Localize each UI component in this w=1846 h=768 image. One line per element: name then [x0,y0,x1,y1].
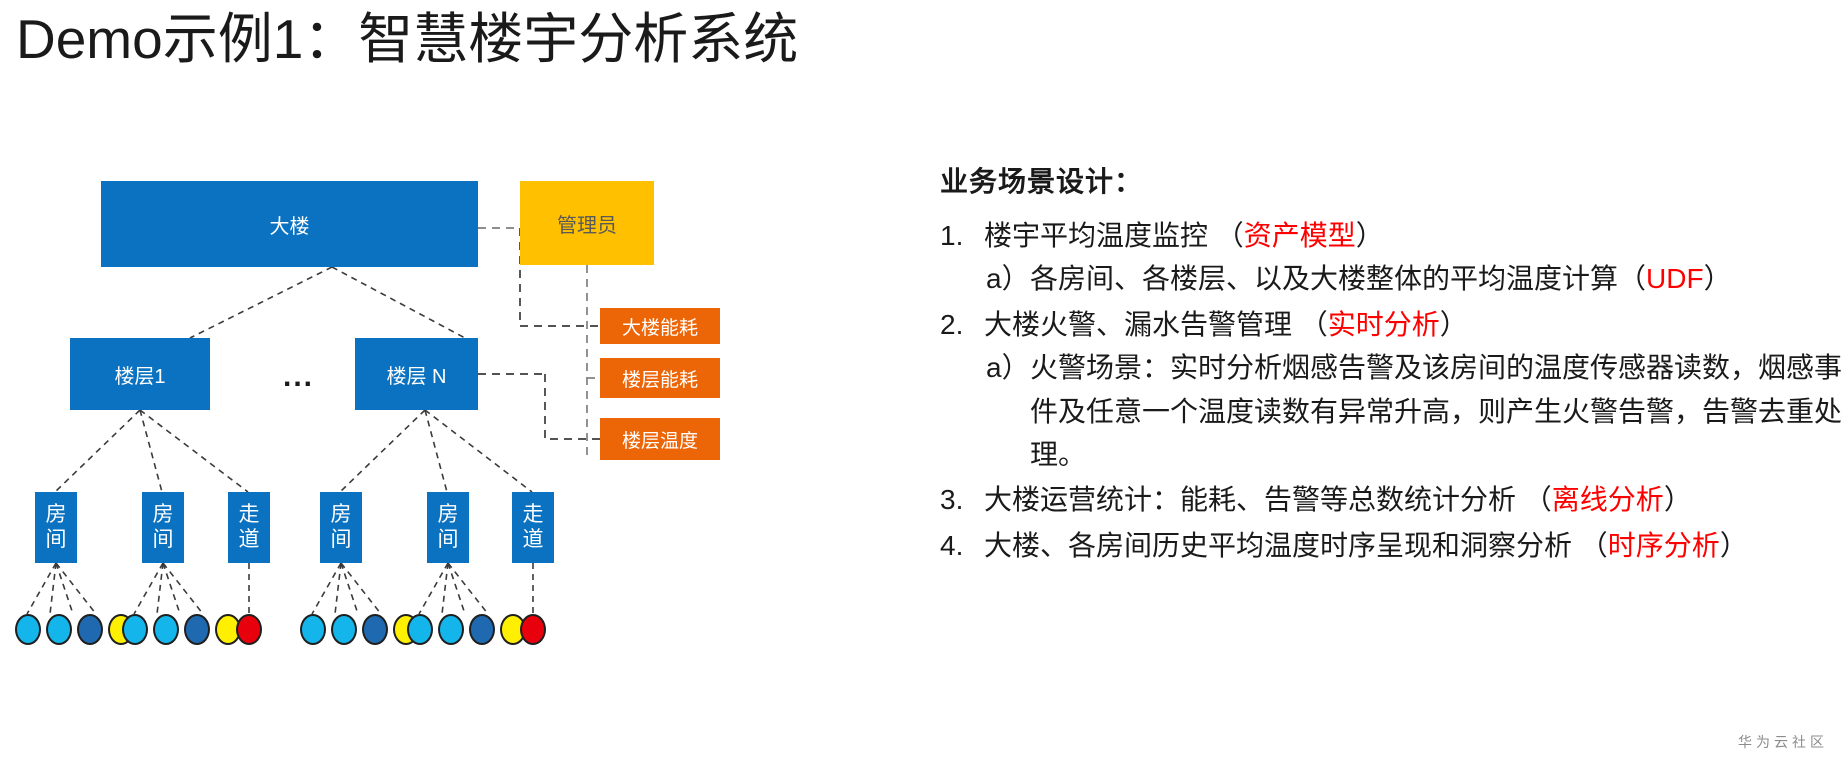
sensor-node[interactable] [438,614,464,645]
node-floor-n-label: 楼层 N [387,360,447,389]
scenario-item-1-number: 1. [940,214,978,257]
node-corridor-1-label-line1: 走 [239,503,260,527]
sensor-node[interactable] [15,614,41,645]
scenario-item-4: 4. 大楼、各房间历史平均温度时序呈现和洞察分析 （时序分析） [984,524,1846,567]
scenario-item-4-tag: 时序分析 [1608,530,1720,561]
scenario-item-2-sub-a-text: 火警场景：实时分析烟感告警及该房间的温度传感器读数，烟感事件及任意一个温度读数有… [1030,346,1846,476]
node-corridor-2-label-line1: 走 [523,503,544,527]
node-building-label: 大楼 [270,210,310,239]
node-room-4-label-line2: 间 [438,528,459,552]
node-metric-floor-temperature[interactable]: 楼层温度 [600,418,720,460]
scenario-item-1: 1. 楼宇平均温度监控 （资产模型） a） 各房间、各楼层、以及大楼整体的平均温… [984,214,1846,301]
node-metric-building-energy-label: 大楼能耗 [622,313,698,340]
scenario-item-2-plain: 大楼火警、漏水告警管理 （ [984,309,1328,340]
scenario-item-3-plain: 大楼运营统计：能耗、告警等总数统计分析 （ [984,484,1552,515]
node-manager-label: 管理员 [557,209,617,238]
sensor-node[interactable] [520,614,546,645]
node-room-2-label-line2: 间 [153,528,174,552]
sensor-node[interactable] [407,614,433,645]
scenario-item-4-text: 大楼、各房间历史平均温度时序呈现和洞察分析 （时序分析） [984,524,1846,567]
scenario-item-1-sub-a-plain: 各房间、各楼层、以及大楼整体的平均温度计算（ [1030,263,1646,294]
node-room-4[interactable]: 房 间 [427,492,469,563]
scenario-item-3-tail: ） [1664,484,1692,515]
scenario-item-1-sub-a: a） 各房间、各楼层、以及大楼整体的平均温度计算（UDF） [984,257,1846,300]
node-floor-1-label: 楼层1 [114,360,165,389]
scenario-item-4-plain: 大楼、各房间历史平均温度时序呈现和洞察分析 （ [984,530,1608,561]
node-floor-n[interactable]: 楼层 N [355,338,478,410]
sensor-node[interactable] [300,614,326,645]
scenario-item-2-sublist: a） 火警场景：实时分析烟感告警及该房间的温度传感器读数，烟感事件及任意一个温度… [984,346,1846,476]
sensor-node[interactable] [362,614,388,645]
node-room-1-label-line2: 间 [46,528,67,552]
scenario-item-1-tail: ） [1356,220,1384,251]
node-metric-floor-energy[interactable]: 楼层能耗 [600,358,720,398]
node-corridor-2[interactable]: 走 道 [512,492,554,563]
sensor-node[interactable] [122,614,148,645]
scenario-item-1-sub-a-tail: ） [1704,263,1732,294]
scenario-item-1-text: 楼宇平均温度监控 （资产模型） [984,214,1846,257]
scenario-panel: 业务场景设计： 1. 楼宇平均温度监控 （资产模型） a） 各房间、各楼层、以及… [940,160,1846,569]
sensor-node[interactable] [469,614,495,645]
node-room-2[interactable]: 房 间 [142,492,184,563]
scenario-item-2-sub-a-number: a） [986,346,1030,389]
node-floor-1[interactable]: 楼层1 [70,338,210,410]
scenario-item-2-tag: 实时分析 [1328,309,1440,340]
sensor-node[interactable] [77,614,103,645]
node-room-3-label-line1: 房 [331,503,352,527]
node-corridor-1[interactable]: 走 道 [228,492,270,563]
scenario-item-1-sub-a-text: 各房间、各楼层、以及大楼整体的平均温度计算（UDF） [1030,257,1846,300]
sensor-node[interactable] [153,614,179,645]
scenario-item-1-sub-a-tag: UDF [1646,263,1704,294]
sensor-node[interactable] [236,614,262,645]
sensor-node[interactable] [46,614,72,645]
building-hierarchy-diagram: 大楼 管理员 楼层1 ... 楼层 N 大楼能耗 楼层能耗 楼层温度 房 间 [0,0,900,768]
scenario-item-1-sub-a-number: a） [986,257,1030,300]
slide-canvas: Demo示例1：智慧楼宇分析系统 [0,0,1846,768]
sensor-node[interactable] [184,614,210,645]
scenario-item-1-plain: 楼宇平均温度监控 （ [984,220,1244,251]
scenario-item-3: 3. 大楼运营统计：能耗、告警等总数统计分析 （离线分析） [984,478,1846,521]
scenario-item-2: 2. 大楼火警、漏水告警管理 （实时分析） a） 火警场景：实时分析烟感告警及该… [984,303,1846,477]
node-metric-floor-temperature-label: 楼层温度 [622,426,698,453]
node-room-4-label-line1: 房 [438,503,459,527]
node-room-3[interactable]: 房 间 [320,492,362,563]
scenario-item-3-tag: 离线分析 [1552,484,1664,515]
scenario-item-4-number: 4. [940,524,978,567]
floors-ellipsis: ... [283,360,314,394]
scenario-item-2-sub-a: a） 火警场景：实时分析烟感告警及该房间的温度传感器读数，烟感事件及任意一个温度… [984,346,1846,476]
scenario-list: 1. 楼宇平均温度监控 （资产模型） a） 各房间、各楼层、以及大楼整体的平均温… [984,214,1846,567]
node-metric-building-energy[interactable]: 大楼能耗 [600,308,720,344]
node-room-3-label-line2: 间 [331,528,352,552]
node-corridor-2-label-line2: 道 [523,528,544,552]
node-room-2-label-line1: 房 [153,503,174,527]
scenario-item-1-sublist: a） 各房间、各楼层、以及大楼整体的平均温度计算（UDF） [984,257,1846,300]
scenario-item-4-tail: ） [1720,530,1748,561]
scenario-panel-heading: 业务场景设计： [940,160,1846,200]
node-metric-floor-energy-label: 楼层能耗 [622,365,698,392]
footer-watermark: 华为云社区 [1738,732,1828,752]
sensor-node[interactable] [331,614,357,645]
scenario-item-3-text: 大楼运营统计：能耗、告警等总数统计分析 （离线分析） [984,478,1846,521]
node-room-1[interactable]: 房 间 [35,492,77,563]
node-room-1-label-line1: 房 [46,503,67,527]
scenario-item-2-tail: ） [1440,309,1468,340]
scenario-item-2-number: 2. [940,303,978,346]
node-corridor-1-label-line2: 道 [239,528,260,552]
scenario-item-2-text: 大楼火警、漏水告警管理 （实时分析） [984,303,1846,346]
node-building[interactable]: 大楼 [101,181,478,267]
scenario-item-1-tag: 资产模型 [1244,220,1356,251]
scenario-item-3-number: 3. [940,478,978,521]
node-manager[interactable]: 管理员 [520,181,654,265]
